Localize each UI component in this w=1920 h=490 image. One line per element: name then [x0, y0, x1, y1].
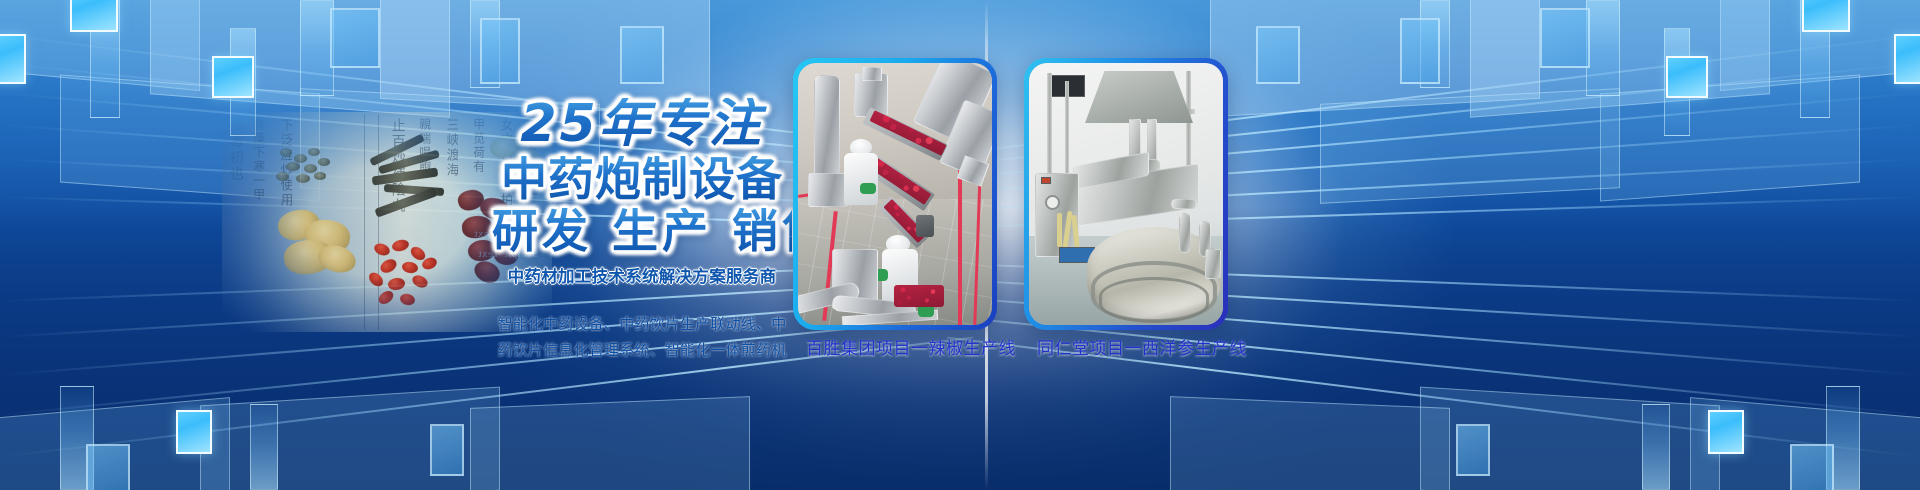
caption-american-ginseng-line: 同仁堂项目一西洋参生产线: [1037, 334, 1247, 359]
body-copy: 智能化中药设备、中药饮片生产联动线、中 药饮片信息化管理系统、智能化一体煎药机: [492, 311, 792, 364]
collage-glyph-column: 親喘唱飽: [418, 118, 431, 328]
headline-line-3: 研发 生产 销售: [492, 208, 792, 254]
photo-card-chili-production-line[interactable]: [793, 58, 997, 330]
caption-chili-production-line: 百胜集团项目一辣椒生产线: [806, 334, 1016, 359]
headline-text-block: 25年专注 中药炮制设备 研发 生产 销售 中药材加工技术系统解决方案服务商 智…: [492, 98, 792, 364]
headline-line-2: 中药炮制设备: [492, 156, 792, 202]
body-copy-line-2: 药饮片信息化管理系统、智能化一体煎药机: [492, 337, 792, 363]
promotional-banner: 顆毒初也 有藻下寒一甲 下泛旌炒使用 止百炒補陰丸 親喘唱飽 三峡渡海 甲苋荷有…: [0, 0, 1920, 490]
collage-glyph-column: 有藻下寒一甲: [252, 118, 265, 328]
headline-line-1: 25年专注: [492, 98, 792, 150]
collage-glyph-column: 顆毒初也: [228, 118, 243, 328]
photo-card-american-ginseng-line[interactable]: [1024, 58, 1228, 330]
body-copy-line-1: 智能化中药设备、中药饮片生产联动线、中: [492, 311, 792, 337]
photo-american-ginseng-line: [1029, 63, 1223, 325]
photo-chili-production-line: [798, 63, 992, 325]
collage-glyph-column: 三峡渡海: [444, 118, 458, 328]
tagline: 中药材加工技术系统解决方案服务商: [492, 263, 792, 287]
